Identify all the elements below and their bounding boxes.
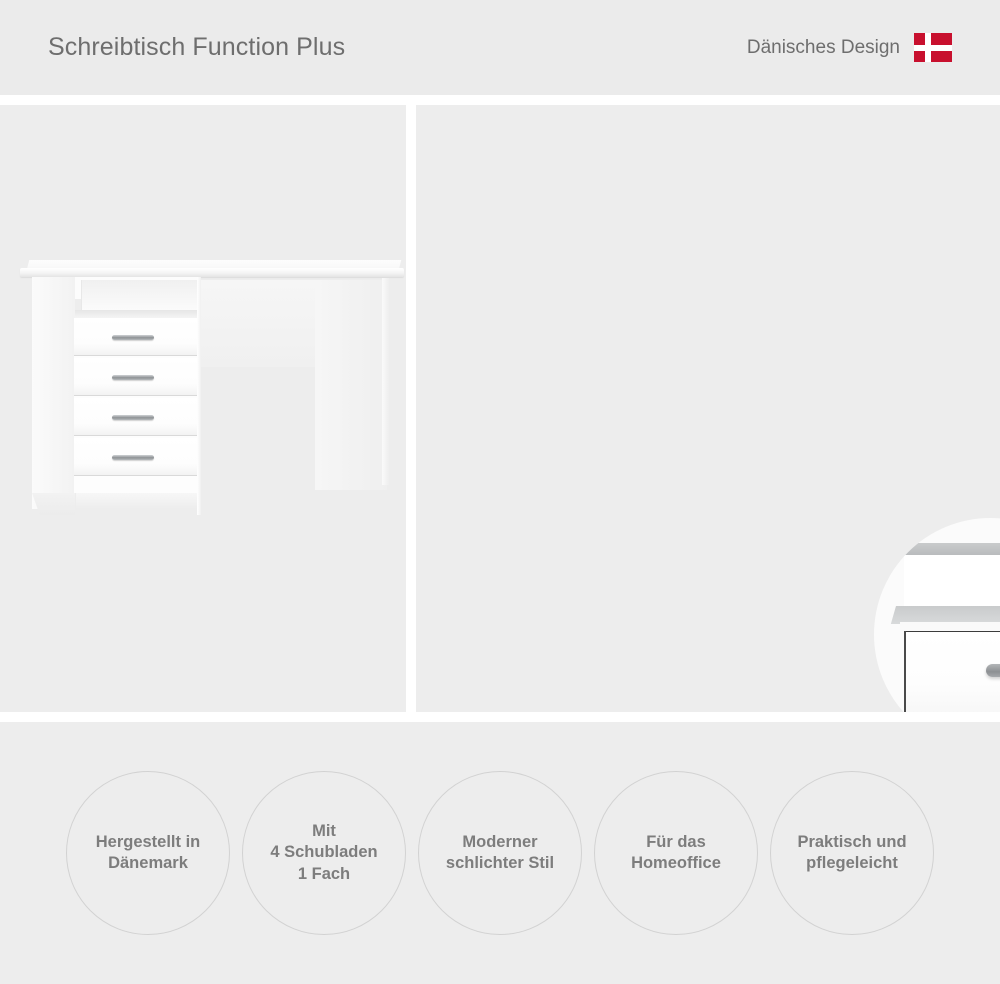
feature-label: Praktisch und pflegeleicht bbox=[791, 832, 912, 874]
desk-right-leg-edge bbox=[382, 278, 389, 485]
feature-homeoffice: Für das Homeoffice bbox=[594, 771, 758, 935]
white-writing-desk-illustration bbox=[18, 260, 406, 550]
desk-left-side-panel bbox=[32, 277, 75, 509]
drawer-handle-icon bbox=[112, 455, 154, 460]
desk-open-shelf bbox=[81, 280, 197, 310]
desk-drawer-1 bbox=[74, 318, 198, 356]
desk-top-edge bbox=[20, 268, 404, 277]
desk-drawer-column bbox=[74, 318, 198, 493]
desk-drawer-plinth bbox=[76, 493, 198, 509]
drawer-shelf-detail-circle bbox=[874, 518, 1000, 712]
detail-shelf-cavity bbox=[904, 550, 1000, 612]
feature-highlights-band: Hergestellt in Dänemark Mit 4 Schubladen… bbox=[0, 722, 1000, 984]
page-title: Schreibtisch Function Plus bbox=[48, 33, 345, 62]
detail-gap bbox=[900, 622, 1000, 631]
drawer-handle-icon bbox=[112, 335, 154, 340]
desk-shelf-floor bbox=[75, 310, 197, 318]
feature-practical: Praktisch und pflegeleicht bbox=[770, 771, 934, 935]
detail-drawer-left-edge bbox=[904, 631, 906, 712]
feature-made-in-denmark: Hergestellt in Dänemark bbox=[66, 771, 230, 935]
header-badge-group: Dänisches Design bbox=[747, 33, 952, 62]
feature-label: Für das Homeoffice bbox=[625, 832, 727, 874]
page-header: Schreibtisch Function Plus Dänisches Des… bbox=[0, 0, 1000, 95]
detail-drawer-handle-icon bbox=[986, 664, 1000, 677]
desk-drawer-4 bbox=[74, 438, 198, 476]
desk-left-side-foot bbox=[32, 493, 75, 515]
feature-label: Mit 4 Schubladen 1 Fach bbox=[264, 821, 383, 884]
feature-label: Moderner schlichter Stil bbox=[440, 832, 560, 874]
feature-label: Hergestellt in Dänemark bbox=[90, 832, 207, 874]
desk-cabinet-divider bbox=[197, 277, 201, 515]
drawer-handle-icon bbox=[112, 375, 154, 380]
feature-drawers: Mit 4 Schubladen 1 Fach bbox=[242, 771, 406, 935]
feature-modern-style: Moderner schlichter Stil bbox=[418, 771, 582, 935]
danish-flag-icon bbox=[914, 33, 952, 62]
drawer-handle-icon bbox=[112, 415, 154, 420]
detail-shelf-top-edge bbox=[893, 543, 1000, 555]
detail-images-panel bbox=[416, 105, 1000, 712]
danish-design-label: Dänisches Design bbox=[747, 37, 900, 59]
main-product-image-panel bbox=[0, 105, 406, 712]
desk-drawer-2 bbox=[74, 358, 198, 396]
flag-cross-horizontal bbox=[914, 45, 952, 51]
desk-back-panel bbox=[198, 280, 322, 367]
desk-drawer-3 bbox=[74, 398, 198, 436]
feature-circle-row: Hergestellt in Dänemark Mit 4 Schubladen… bbox=[0, 722, 1000, 984]
product-infographic-page: Schreibtisch Function Plus Dänisches Des… bbox=[0, 0, 1000, 984]
desk-right-panel-leg bbox=[315, 280, 387, 490]
